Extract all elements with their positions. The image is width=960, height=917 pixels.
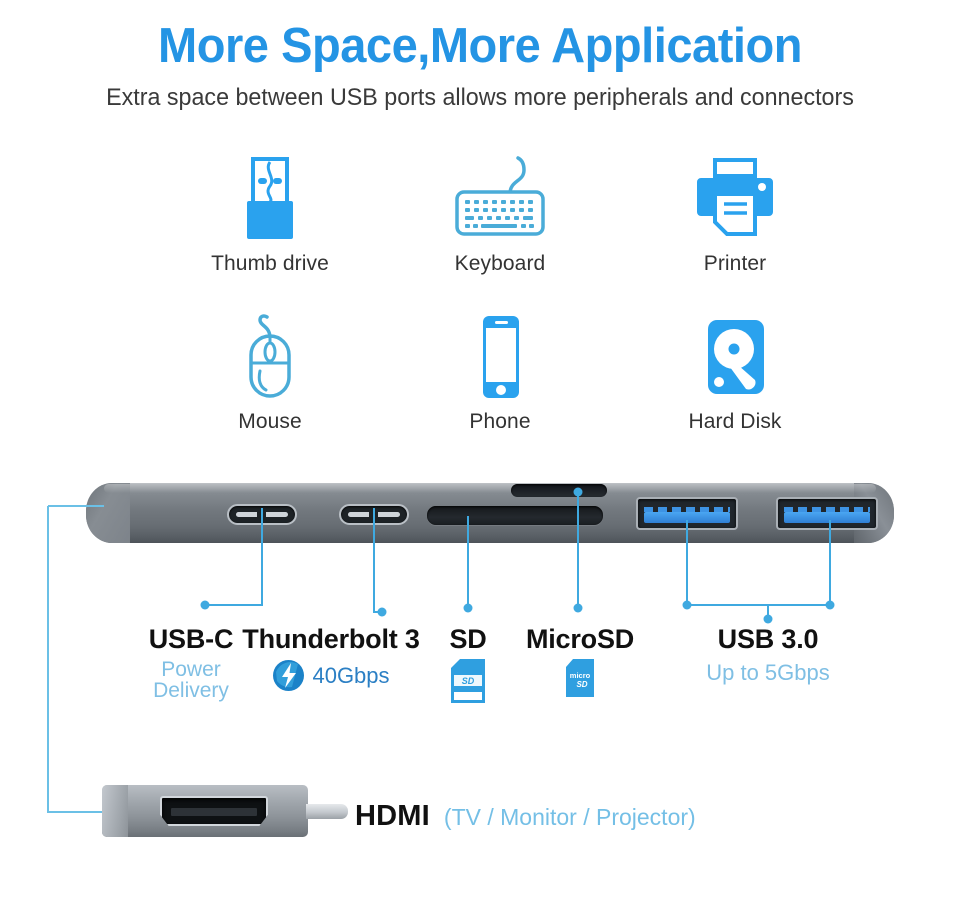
infographic-canvas: More Space,More Application Extra space … — [0, 0, 960, 917]
hdmi-port-tongue — [171, 808, 257, 816]
peripheral-grid: Thumb drive — [150, 150, 830, 450]
hdmi-port — [160, 796, 268, 826]
microsd-card-icon: micro SD — [566, 659, 594, 697]
sd-card-slot — [427, 506, 603, 525]
svg-text:SD: SD — [462, 676, 475, 686]
peripheral-label: Thumb drive — [175, 252, 365, 276]
peripheral-item-thumb-drive: Thumb drive — [175, 150, 365, 276]
label-title: SD — [428, 624, 508, 655]
usb-a-tongue — [784, 512, 870, 523]
hard-disk-icon — [640, 308, 830, 400]
thunderbolt-icon — [272, 659, 305, 692]
peripheral-label: Phone — [405, 410, 595, 434]
thunderbolt-speed-row: 40Gbps — [216, 659, 446, 692]
peripheral-item-phone: Phone — [405, 308, 595, 434]
thunderbolt-speed: 40Gbps — [312, 664, 389, 687]
label-usb-3: USB 3.0 Up to 5Gbps — [672, 624, 864, 684]
usb-3-port-1 — [636, 497, 738, 530]
hdmi-left-bevel — [102, 785, 128, 837]
sd-card-icon: SD — [451, 659, 485, 703]
svg-text:SD: SD — [576, 680, 587, 689]
usb-thumb-drive-icon — [175, 150, 365, 242]
label-thunderbolt-3: Thunderbolt 3 40Gbps — [216, 624, 446, 692]
usb-3-speed: Up to 5Gbps — [672, 661, 864, 684]
hub-top-highlight — [104, 484, 876, 493]
label-title: MicroSD — [500, 624, 660, 655]
usb-a-tongue — [644, 512, 730, 523]
sd-badge-row: SD — [428, 659, 508, 703]
peripheral-item-hard-disk: Hard Disk — [640, 308, 830, 434]
phone-icon — [405, 308, 595, 400]
svg-text:micro: micro — [570, 671, 591, 680]
usb-hub-device — [86, 483, 894, 543]
label-sd: SD SD — [428, 624, 508, 703]
label-title: Thunderbolt 3 — [216, 624, 446, 655]
hdmi-note: (TV / Monitor / Projector) — [444, 804, 696, 831]
peripheral-item-printer: Printer — [640, 150, 830, 276]
peripheral-label: Keyboard — [405, 252, 595, 276]
printer-icon — [640, 150, 830, 242]
keyboard-icon — [405, 150, 595, 242]
page-title: More Space,More Application — [19, 18, 941, 74]
hdmi-label-group: HDMI (TV / Monitor / Projector) — [355, 800, 696, 833]
hdmi-title: HDMI — [355, 800, 430, 833]
peripheral-label: Mouse — [175, 410, 365, 434]
label-title: USB 3.0 — [672, 624, 864, 655]
hdmi-adapter-device — [96, 785, 314, 841]
mouse-icon — [175, 308, 365, 400]
peripheral-label: Hard Disk — [640, 410, 830, 434]
hdmi-cable-stub — [306, 804, 348, 819]
usb-3-port-2 — [776, 497, 878, 530]
peripheral-item-mouse: Mouse — [175, 308, 365, 434]
peripheral-label: Printer — [640, 252, 830, 276]
microsd-badge-row: micro SD — [500, 659, 660, 697]
peripheral-item-keyboard: Keyboard — [405, 150, 595, 276]
microsd-card-slot — [511, 484, 607, 497]
usb-c-port — [227, 504, 297, 525]
page-subtitle: Extra space between USB ports allows mor… — [24, 83, 936, 113]
callout-leader-lines — [0, 0, 960, 917]
thunderbolt-3-port — [339, 504, 409, 525]
label-microsd: MicroSD micro SD — [500, 624, 660, 697]
